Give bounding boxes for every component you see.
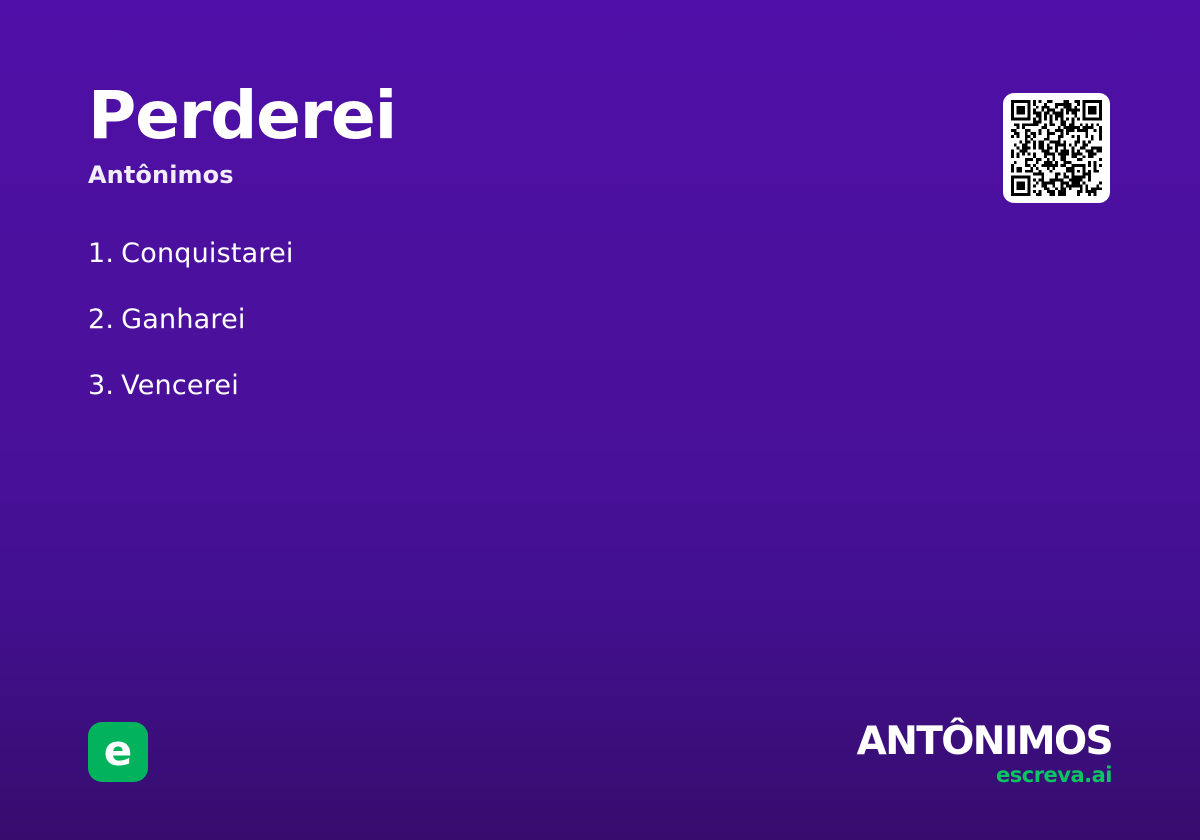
brand-lockup: ANTÔNIMOS escreva.ai [782, 722, 1112, 786]
card-category-label: Antônimos [88, 161, 908, 190]
brand-domain: escreva.ai [782, 765, 1112, 786]
antonyms-list: 1.Conquistarei 2.Ganharei 3.Vencerei [88, 238, 888, 402]
qr-code-icon[interactable] [1011, 100, 1102, 196]
list-item-label: Conquistarei [121, 238, 293, 269]
list-item-index: 2. [88, 304, 114, 335]
list-item: 2.Ganharei [88, 304, 888, 336]
card-header: Perderei Antônimos [88, 82, 908, 189]
antonyms-card: Perderei Antônimos 1.Conquistarei 2.Ganh… [0, 0, 1200, 840]
escreva-logo-mark: e [88, 722, 148, 782]
list-item-label: Vencerei [121, 370, 239, 401]
page-title: Perderei [88, 82, 908, 151]
brand-name: ANTÔNIMOS [782, 722, 1112, 761]
list-item-label: Ganharei [121, 304, 245, 335]
list-item-index: 1. [88, 238, 114, 269]
escreva-logo-letter: e [104, 730, 133, 772]
qr-code-card[interactable] [1003, 93, 1110, 203]
list-item-index: 3. [88, 370, 114, 401]
list-item: 3.Vencerei [88, 370, 888, 402]
list-item: 1.Conquistarei [88, 238, 888, 270]
